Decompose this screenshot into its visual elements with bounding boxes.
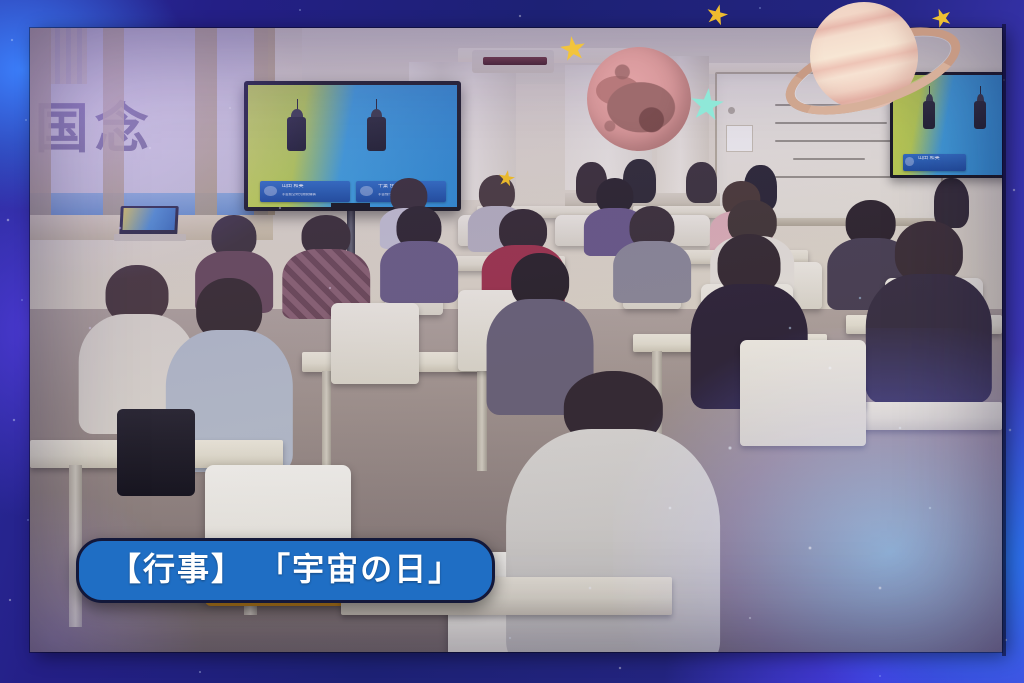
caption-badge: 【行事】 「宇宙の日」: [76, 538, 495, 603]
laptop-screen: [123, 209, 175, 230]
frame-right-shadow-edge: [1002, 24, 1006, 656]
desk-leg-fg-1: [69, 465, 83, 627]
caption-label: 【行事】 「宇宙の日」: [109, 552, 462, 587]
tv-secondary-screen: 山田 和美: [893, 75, 1002, 175]
speaker-body-left: [287, 117, 306, 152]
projection-kanji-text: 国念: [35, 84, 264, 163]
desk-leg-2: [477, 371, 487, 471]
tv-speaker-left: [277, 117, 319, 173]
front-person-5: [934, 178, 969, 228]
window-frame-column-1: [30, 28, 51, 215]
speaker-name-left: 山田 和美: [282, 184, 347, 194]
student-body: [613, 241, 691, 303]
tv-stand: [331, 203, 370, 212]
tv-speaker-right: [356, 117, 398, 173]
laptop: [120, 206, 180, 235]
whiteboard-writing-line-4: [793, 158, 865, 160]
broadcaster-logo-icon: [264, 186, 277, 197]
whiteboard-writing-line-2: [775, 122, 887, 124]
chair-foreground-right: [740, 340, 866, 446]
tv-name-bar-left: 山田 和美 宇宙航空研究開発機構: [260, 181, 350, 202]
student-mid-plaid: [283, 215, 370, 315]
window-frame-column-2: [103, 28, 124, 215]
window-blinds: [49, 28, 87, 84]
backpack: [117, 409, 195, 496]
tv2-speaker-name: 山田 和美: [918, 156, 963, 164]
tv2-speaker-right: [969, 101, 993, 147]
whiteboard-card: [726, 125, 753, 152]
air-conditioner-vent: [483, 57, 547, 65]
student-mid-4: [613, 206, 691, 300]
student-mid-2: [380, 206, 458, 300]
tv2-speaker-body-right: [974, 101, 985, 129]
whiteboard-magnet-1: [728, 107, 735, 114]
tv2-speaker-body-left: [923, 101, 934, 129]
student-body: [380, 241, 458, 303]
projection-screen: 国念: [30, 28, 268, 215]
student-body-hoodie: [506, 429, 720, 652]
whiteboard-writing-line-3: [775, 140, 900, 142]
tv2-broadcaster-logo-icon: [905, 157, 914, 166]
chair-near-1: [331, 303, 418, 384]
student-body-dark: [866, 274, 992, 403]
tv-secondary: 山田 和美: [890, 72, 1002, 178]
image-canvas: 国念: [0, 0, 1024, 683]
tv2-name-bar: 山田 和美: [903, 154, 966, 171]
laptop-base: [114, 234, 186, 241]
student-near-right-2: [866, 221, 992, 396]
whiteboard-writing-line-1: [775, 104, 864, 106]
speaker-body-right: [367, 117, 386, 152]
tv2-speaker-left: [918, 101, 942, 147]
speaker-affiliation-left: 宇宙航空研究開発機構: [282, 193, 347, 200]
window-frame-column-3: [195, 28, 216, 215]
broadcaster-logo-icon-2: [360, 186, 373, 197]
